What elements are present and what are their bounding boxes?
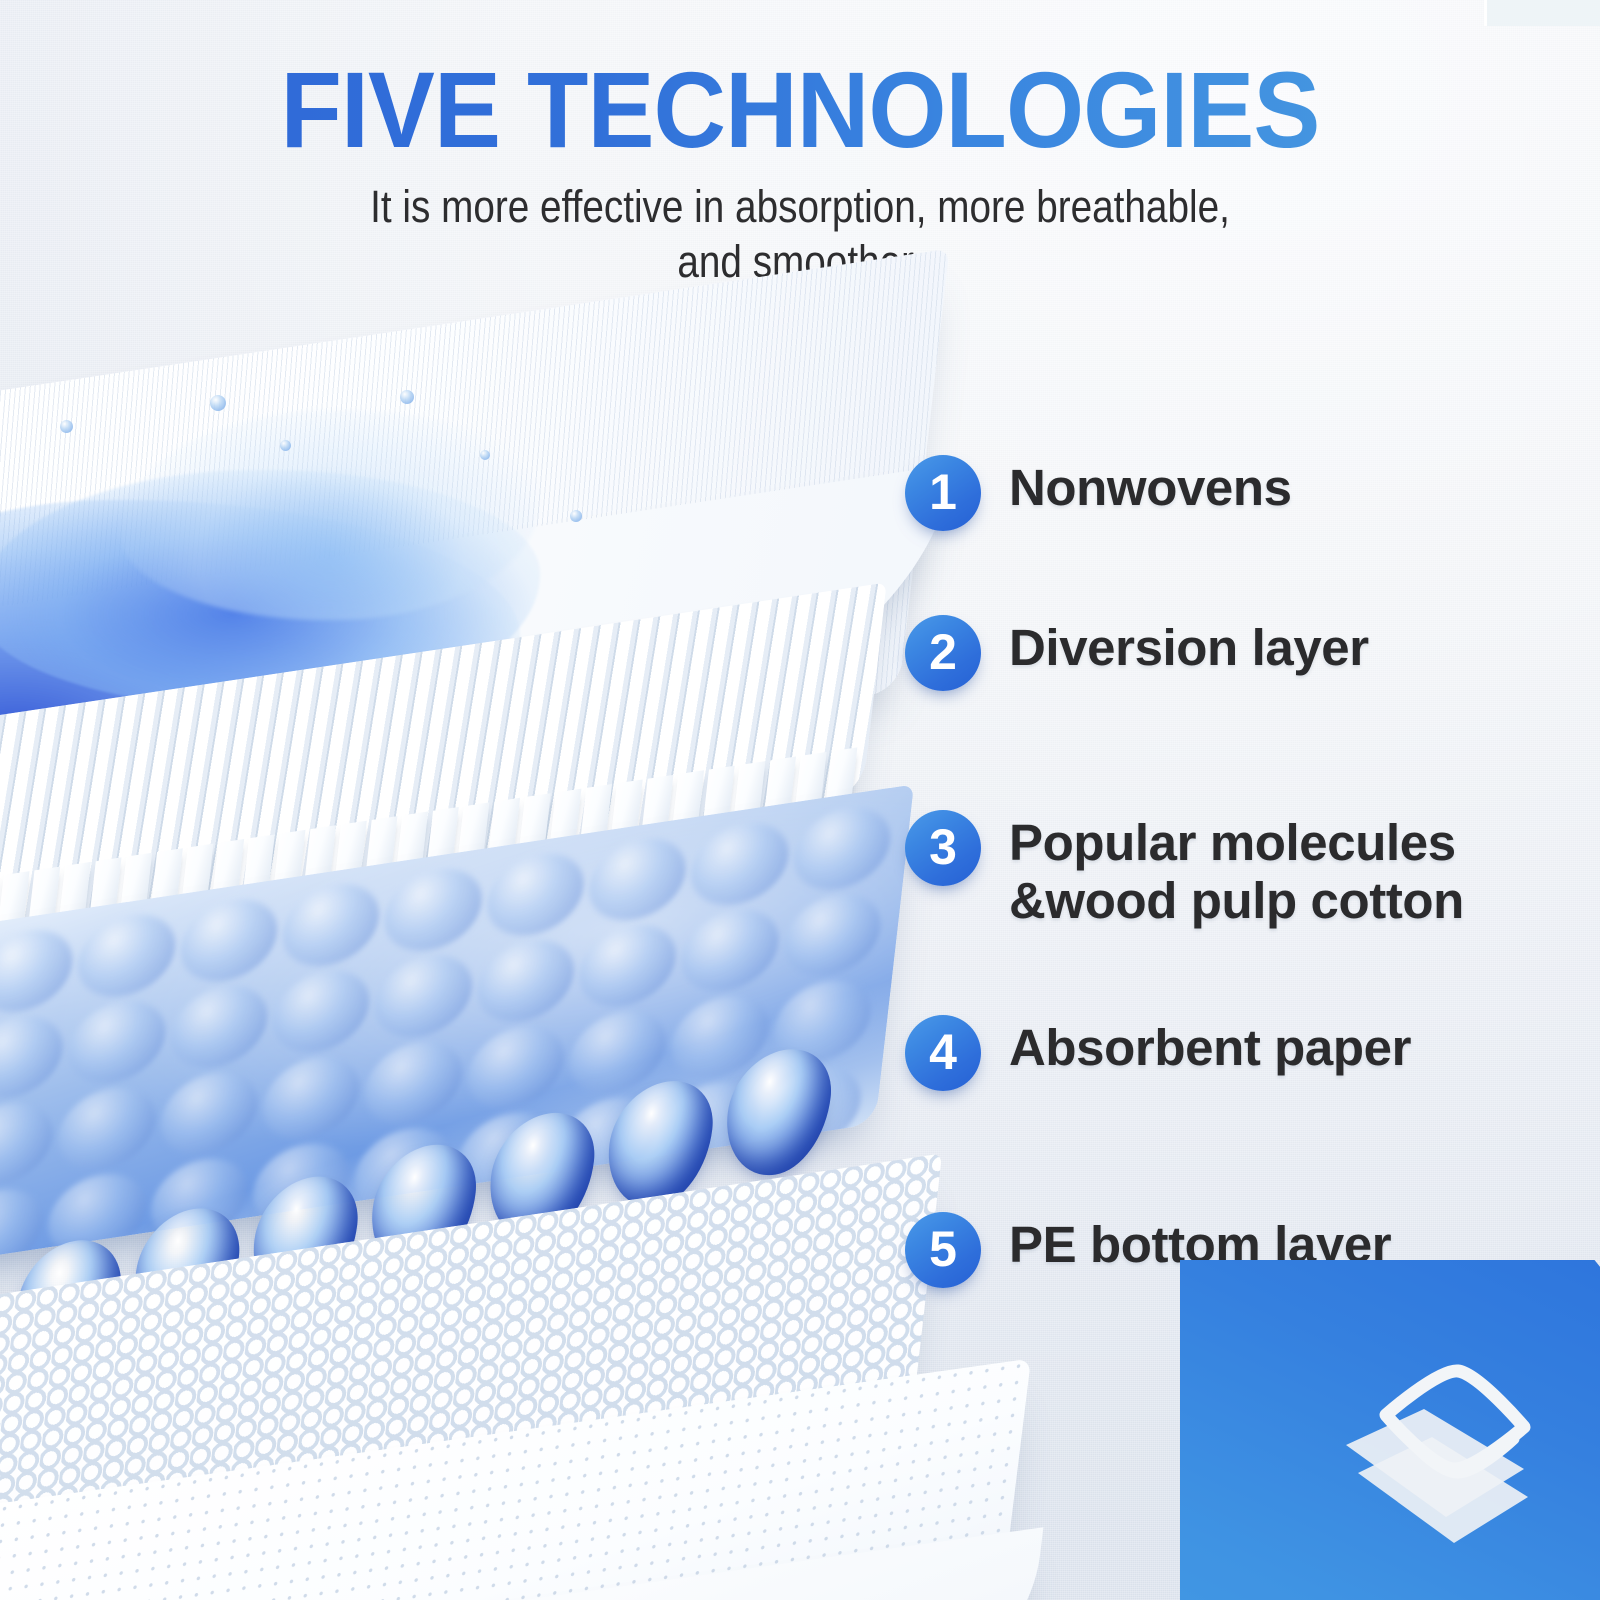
legend-badge-5: 5 (905, 1212, 981, 1288)
gel-blob (268, 964, 373, 1059)
gel-blob (687, 817, 792, 912)
legend-item-2[interactable]: 2 Diversion layer (905, 615, 1369, 691)
legend-badge-2: 2 (905, 615, 981, 691)
water-droplet (210, 395, 226, 411)
gel-blob (585, 832, 690, 927)
gel-blob (483, 847, 588, 942)
legend-label-1: Nonwovens (1009, 455, 1292, 517)
gel-blob (677, 903, 782, 998)
legend-item-4[interactable]: 4 Absorbent paper (905, 1015, 1411, 1091)
gel-blob (789, 801, 894, 896)
gel-blob (0, 924, 77, 1019)
legend-label-3: Popular molecules &wood pulp cotton (1009, 810, 1464, 929)
legend-item-1[interactable]: 1 Nonwovens (905, 455, 1292, 531)
gel-blob (371, 949, 476, 1044)
gel-blob (575, 918, 680, 1013)
water-droplet (480, 450, 490, 460)
water-droplet (570, 510, 582, 522)
legend-badge-4: 4 (905, 1015, 981, 1091)
gel-blob (779, 888, 884, 983)
gel-blob (64, 995, 169, 1090)
legend-item-3[interactable]: 3 Popular molecules &wood pulp cotton (905, 810, 1464, 929)
gel-blob (0, 1010, 67, 1105)
legend-badge-1: 1 (905, 455, 981, 531)
legend-badge-3: 3 (905, 810, 981, 886)
infographic-canvas: FIVE TECHNOLOGIES It is more effective i… (0, 0, 1600, 1600)
water-droplet (400, 390, 414, 404)
corner-brand-badge (1180, 1260, 1600, 1600)
gel-blob (166, 979, 271, 1074)
gel-blob (176, 893, 281, 988)
water-droplet (60, 420, 73, 433)
water-droplet (280, 440, 291, 451)
gel-blob (473, 934, 578, 1029)
legend-label-2: Diversion layer (1009, 615, 1369, 677)
gel-blob (278, 878, 383, 973)
product-layer-illustration (0, 300, 1060, 1600)
stacked-sheets-icon (1328, 1357, 1538, 1552)
gel-blob (380, 862, 485, 957)
legend-label-4: Absorbent paper (1009, 1015, 1411, 1077)
gel-blob (74, 908, 179, 1003)
